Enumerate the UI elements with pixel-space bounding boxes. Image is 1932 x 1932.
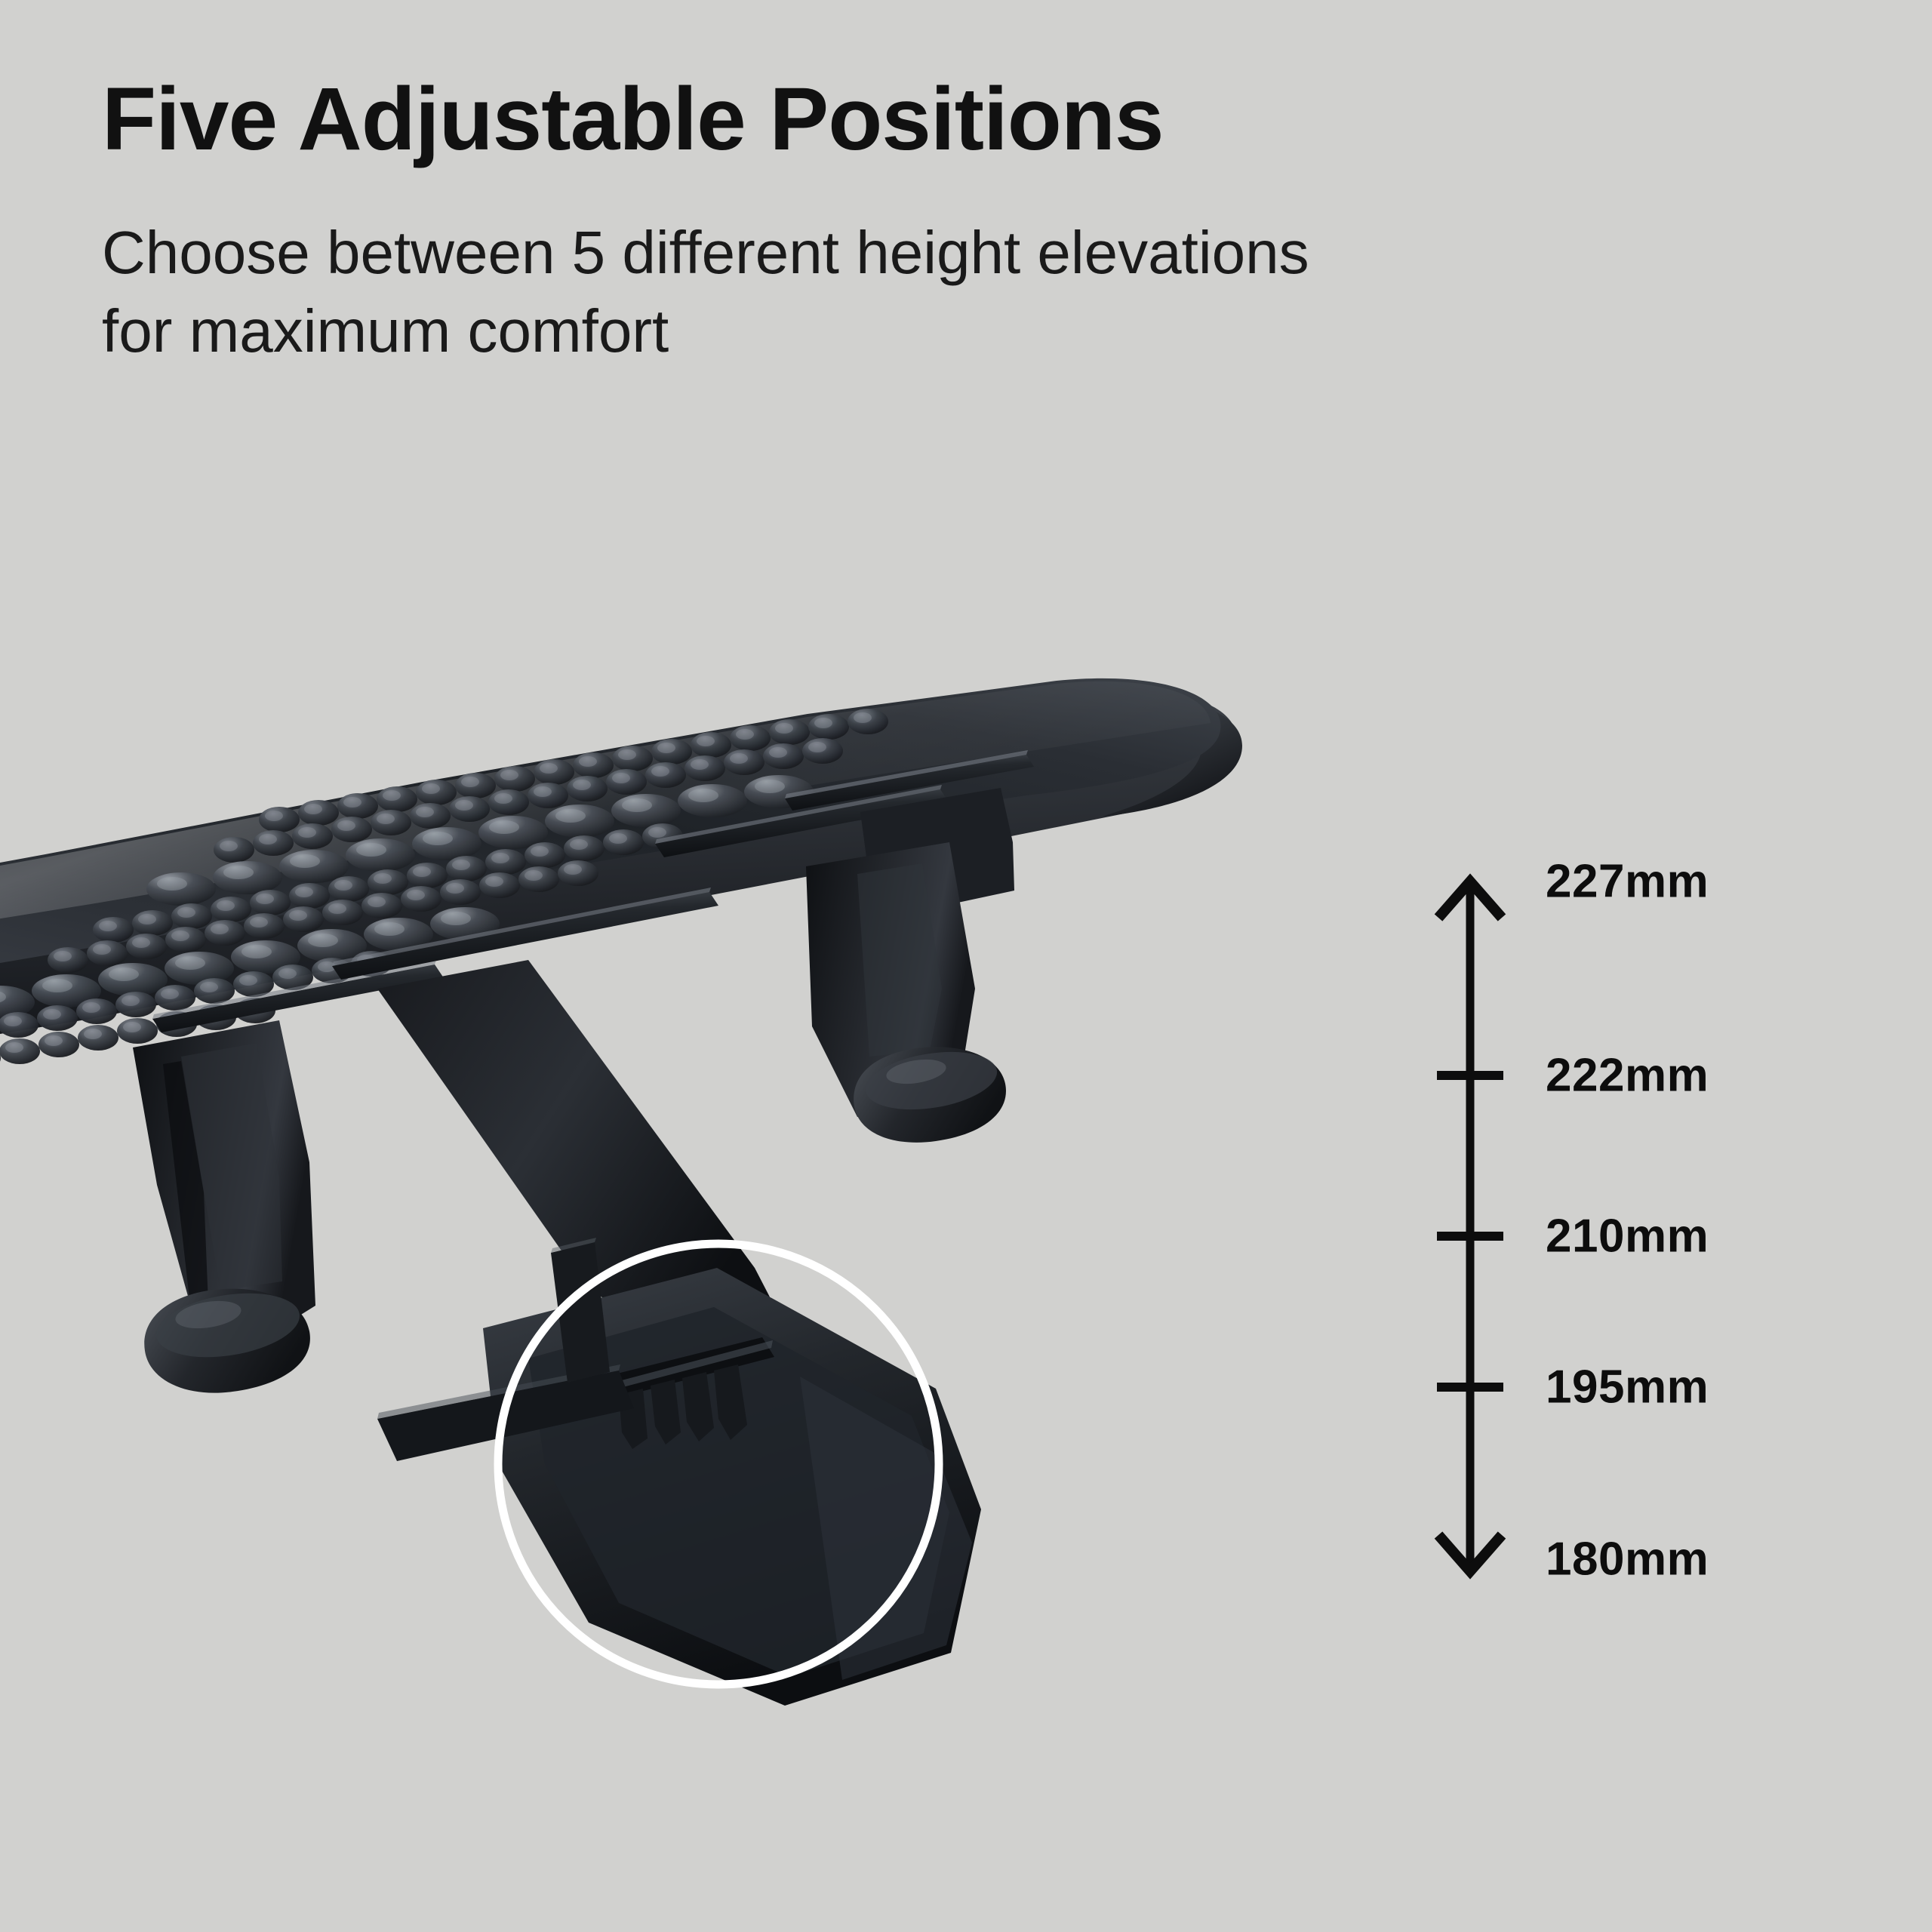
subtitle-block: Choose between 5 different height elevat… — [102, 214, 1747, 371]
scale-label-222: 222mm — [1546, 1049, 1709, 1103]
infographic-canvas: Five Adjustable Positions Choose between… — [0, 0, 1932, 1932]
left-foot-cap — [144, 1284, 310, 1392]
page-title: Five Adjustable Positions — [102, 72, 1860, 167]
height-scale: 227mm 222mm 210mm 195mm 180mm — [1404, 845, 1887, 1607]
product-image — [0, 664, 1509, 1721]
header-block: Five Adjustable Positions Choose between… — [102, 72, 1860, 371]
scale-label-210: 210mm — [1546, 1210, 1709, 1263]
scale-label-227: 227mm — [1546, 855, 1709, 909]
scale-label-195: 195mm — [1546, 1361, 1709, 1414]
scale-label-180: 180mm — [1546, 1533, 1709, 1586]
footrest-illustration — [0, 664, 1509, 1721]
subtitle-line-1: Choose between 5 different height elevat… — [102, 214, 1747, 292]
subtitle-line-2: for maximum comfort — [102, 292, 1747, 371]
